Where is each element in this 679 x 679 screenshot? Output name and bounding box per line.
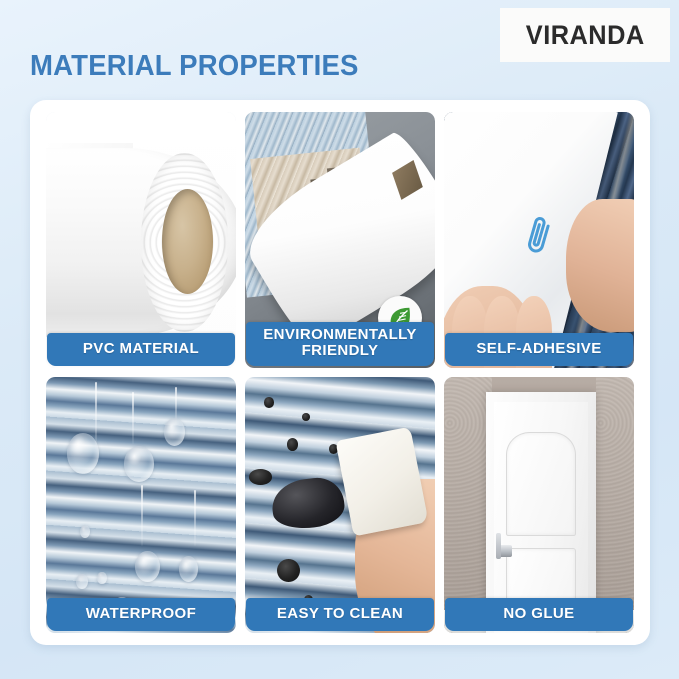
stain-spot-2: [302, 413, 310, 421]
water-droplet-8: [80, 525, 90, 538]
water-streak-5: [194, 490, 196, 546]
feature-label-no-glue: NO GLUE: [445, 598, 633, 631]
feature-label-pvc-material: PVC MATERIAL: [47, 333, 235, 366]
feature-card-pvc-material: PVC MATERIAL: [46, 112, 236, 368]
feature-card-waterproof: WATERPROOF: [46, 377, 236, 633]
door-handle-shape: [496, 545, 512, 557]
feature-label-line-1: ENVIRONMENTALLY: [263, 326, 417, 343]
water-streak-4: [141, 485, 143, 546]
feature-label-self-adhesive: SELF-ADHESIVE: [445, 333, 633, 366]
water-droplet-2: [124, 446, 154, 482]
pvc-roll-photo: [46, 112, 236, 368]
stain-spot-1: [264, 397, 274, 407]
wall-right-shape: [596, 377, 634, 633]
waterproof-photo: [46, 377, 236, 633]
cleaning-cloth-shape: [335, 427, 428, 537]
no-glue-door-photo: [444, 377, 634, 633]
brand-logo: VIRANDA: [500, 8, 670, 62]
door-panel-top-shape: [506, 432, 576, 536]
feature-card-environmentally-friendly: ENVIRONMENTALLY FRIENDLY: [245, 112, 435, 368]
infographic-page: VIRANDA MATERIAL PROPERTIES PVC MATERIAL: [0, 0, 679, 679]
water-droplet-6: [76, 574, 87, 589]
water-droplet-4: [135, 551, 160, 582]
water-streak-1: [95, 382, 97, 449]
feature-card-easy-to-clean: EASY TO CLEAN: [245, 377, 435, 633]
feature-card-no-glue: NO GLUE: [444, 377, 634, 633]
water-droplet-1: [67, 433, 99, 474]
water-droplet-5: [179, 556, 198, 582]
door-frame-shape: [486, 392, 596, 633]
stain-spot-5: [277, 559, 300, 582]
features-grid: PVC MATERIAL: [46, 112, 634, 633]
feature-card-self-adhesive: SELF-ADHESIVE: [444, 112, 634, 368]
stain-smear-large: [269, 475, 347, 532]
feature-label-line-2: FRIENDLY: [302, 342, 379, 359]
features-panel: PVC MATERIAL: [30, 100, 650, 645]
stain-spot-7: [249, 469, 272, 484]
brand-logo-text: VIRANDA: [526, 20, 645, 51]
feature-label-waterproof: WATERPROOF: [47, 598, 235, 631]
feature-label-easy-to-clean: EASY TO CLEAN: [246, 598, 434, 631]
stain-spot-3: [287, 438, 298, 451]
water-streak-2: [132, 392, 134, 443]
self-adhesive-photo: [444, 112, 634, 368]
page-title: MATERIAL PROPERTIES: [30, 50, 359, 83]
wall-left-shape: [444, 377, 492, 633]
feature-label-environmentally-friendly: ENVIRONMENTALLY FRIENDLY: [246, 322, 434, 366]
water-droplet-3: [164, 418, 185, 446]
easy-to-clean-photo: [245, 377, 435, 633]
pvc-roll-core-shape: [162, 189, 213, 294]
water-droplet-7: [97, 572, 107, 585]
